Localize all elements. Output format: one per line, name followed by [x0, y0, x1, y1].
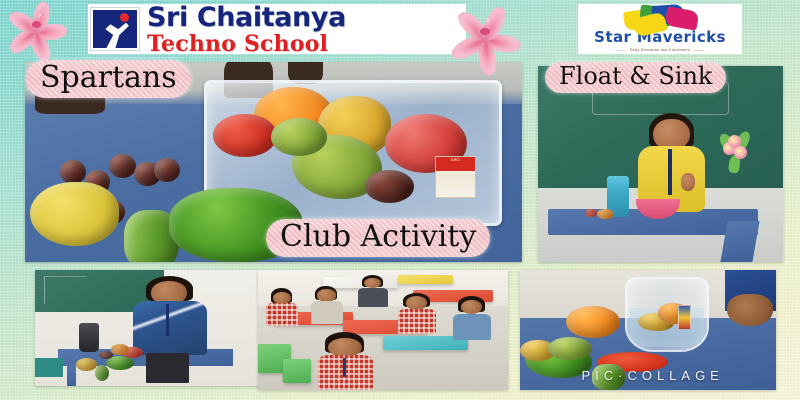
student-shirt	[398, 309, 436, 333]
student-lanyard	[668, 149, 671, 196]
student-face	[317, 289, 336, 301]
student-face	[461, 300, 483, 314]
mavericks-shape-magenta	[665, 6, 700, 30]
fruit-tomato	[213, 114, 277, 157]
mavericks-shapes-icon	[578, 4, 742, 29]
student-face	[406, 296, 428, 309]
school-branding-banner: Sri Chaitanya Techno School	[88, 4, 466, 54]
caption-float-and-sink: Float & Sink	[545, 62, 726, 93]
logo-red-dot-icon	[120, 13, 129, 22]
mavericks-subtitle: Early Education and Enrichment	[578, 48, 742, 52]
sri-chaitanya-logo-icon	[91, 8, 139, 50]
mavericks-title: Star Mavericks	[578, 30, 742, 45]
sticker-bloom-3	[728, 135, 741, 148]
photo-float-sink-demo[interactable]	[538, 66, 783, 262]
tray-price-label: ARO	[435, 156, 476, 198]
student-lanyard	[343, 358, 346, 378]
fruit-plum-in-tray	[365, 170, 415, 204]
small-toy-on-desk	[585, 209, 597, 217]
school-name-secondary: Techno School	[147, 33, 346, 55]
blue-desk-leg	[67, 365, 76, 386]
desk-yellow-back	[398, 275, 453, 285]
fruit-papaya	[30, 182, 119, 246]
label-brand-stripe: ARO	[436, 157, 475, 171]
fruit-guava-on-table	[548, 337, 592, 360]
student-seated-3	[358, 275, 388, 307]
fruit-plum-1	[60, 160, 86, 184]
glass-jar	[625, 277, 709, 351]
student-face	[328, 338, 362, 358]
pic-collage-watermark: PIC·COLLAGE	[581, 368, 723, 383]
header-band: Sri Chaitanya Techno School Star Maveric…	[0, 0, 800, 58]
student-hand	[681, 173, 695, 191]
star-mavericks-logo: Star Mavericks Early Education and Enric…	[578, 4, 742, 54]
jar-label-sticker	[678, 305, 692, 330]
school-name-block: Sri Chaitanya Techno School	[147, 4, 346, 55]
dark-water-bottle	[79, 323, 100, 352]
cucumber-on-desk	[95, 365, 109, 381]
fruit-guava	[271, 118, 327, 156]
teal-chair	[35, 358, 63, 377]
photo-collage-canvas: Sri Chaitanya Techno School Star Maveric…	[0, 0, 800, 400]
student-shirt	[453, 314, 491, 340]
hibiscus-flower-icon-left	[2, 0, 70, 50]
caption-spartans: Spartans	[26, 60, 191, 98]
student-shirt	[358, 288, 388, 307]
student-standing	[132, 276, 210, 383]
small-fruit-on-desk	[597, 209, 614, 219]
photo-glass-jar-experiment[interactable]: PIC·COLLAGE	[520, 270, 776, 390]
school-name-primary: Sri Chaitanya	[147, 4, 346, 31]
student-seated-2	[311, 286, 344, 324]
student-presenter	[631, 113, 712, 250]
student-seated-foreground	[318, 332, 373, 390]
student-lanyard	[166, 304, 169, 336]
chalkboard-writing-left	[44, 276, 85, 304]
caption-club-activity: Club Activity	[266, 219, 490, 257]
student-shirt	[311, 301, 344, 324]
student-blue-tracksuit	[133, 301, 206, 354]
student-seated-4	[398, 293, 436, 334]
fruit-orange-on-desk	[111, 344, 129, 354]
fruit-lemon-on-desk	[76, 358, 97, 371]
student-seated-5	[453, 296, 491, 339]
student-face	[273, 292, 291, 304]
chair-green-bottom	[283, 359, 311, 383]
fruit-orange-on-table	[566, 306, 620, 338]
fruit-plum-5	[154, 158, 180, 182]
photo-student-presentation[interactable]	[35, 270, 265, 386]
photo-classroom-audience[interactable]	[258, 270, 508, 390]
logo-runner-figure-icon	[102, 21, 130, 48]
student-shirt	[266, 303, 299, 326]
decorative-flower-sticker	[719, 129, 753, 175]
student-seated-1	[266, 288, 299, 326]
student-trousers	[146, 353, 190, 383]
